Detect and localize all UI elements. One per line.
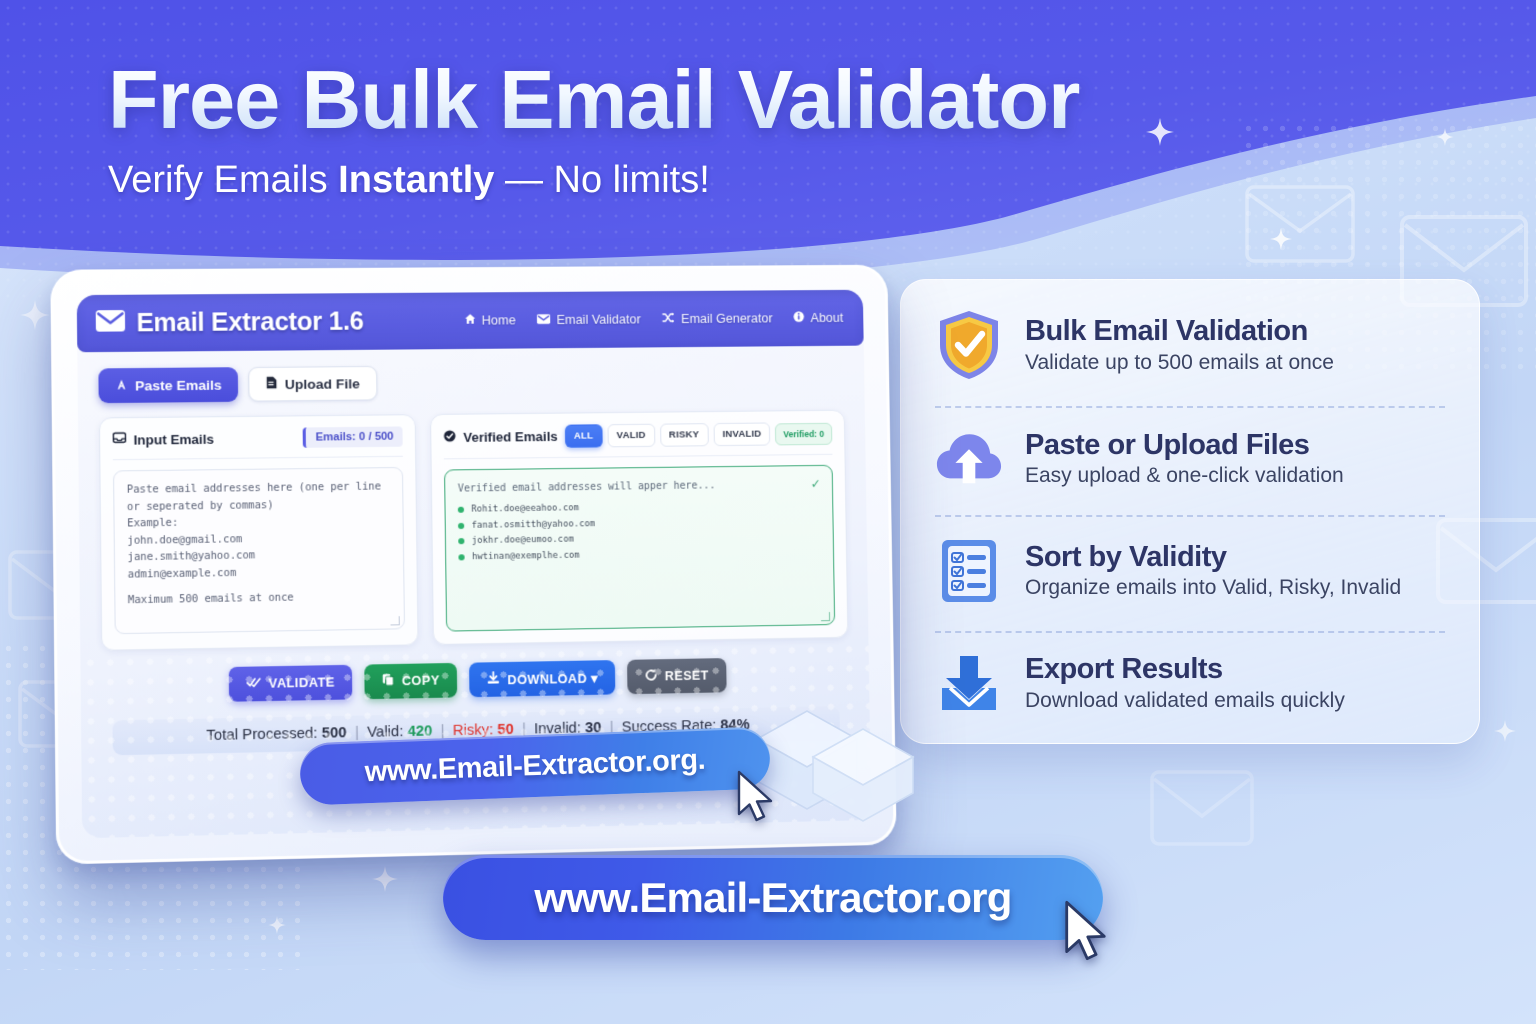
nav-item-home[interactable]: Home: [464, 313, 516, 328]
verified-results-box[interactable]: Verified email addresses will apper here…: [444, 465, 835, 632]
verified-count-badge: Verified: 0: [775, 422, 832, 445]
sparkle-icon: [1270, 228, 1292, 255]
subtitle-lead: Verify Emails: [108, 159, 338, 201]
button-label: DOWNLOAD ▾: [507, 670, 598, 687]
shuffle-icon: [662, 312, 675, 326]
copy-icon: [382, 673, 395, 690]
text-cursor-icon: [115, 378, 128, 393]
filter-tab-group: ALL VALID RISKY INVALID Verified: 0: [565, 422, 833, 448]
envelope-decor-icon: [1150, 770, 1254, 846]
feature-subtitle: Organize emails into Valid, Risky, Inval…: [1025, 576, 1445, 600]
sparkle-icon: [268, 916, 286, 939]
sparkle-icon: [1436, 128, 1454, 151]
feature-subtitle: Validate up to 500 emails at once: [1025, 351, 1445, 375]
tab-label: Upload File: [285, 376, 360, 392]
input-panel: Input Emails Emails: 0 / 500 Paste email…: [99, 414, 419, 651]
status-dot: [458, 538, 464, 544]
verified-hint-row: Verified email addresses will apper here…: [458, 476, 820, 497]
list-item: Rohit.doe@eeahoo.com: [458, 500, 820, 515]
verified-panel-header: Verified Emails ALL VALID RISKY INVALID …: [444, 422, 833, 460]
feature-subtitle: Download validated emails quickly: [1025, 689, 1445, 713]
valid-label: Valid:: [367, 724, 403, 741]
checklist-icon: [935, 536, 1003, 606]
status-dot: [459, 554, 465, 560]
envelope-icon: [537, 313, 550, 327]
nav-item-email-generator[interactable]: Email Generator: [662, 311, 773, 326]
envelope-decor-icon: [1245, 185, 1355, 263]
feature-title: Sort by Validity: [1025, 541, 1445, 574]
valid-value: 420: [407, 723, 432, 740]
nav-label: About: [811, 311, 844, 325]
action-button-row: VALIDATE COPY DOWNLOAD ▾ RESET: [101, 656, 849, 704]
feature-title: Bulk Email Validation: [1025, 315, 1445, 348]
info-icon: [794, 311, 805, 325]
email-input-textarea[interactable]: Paste email addresses here (one per line…: [113, 467, 405, 634]
verified-email-list: Rohit.doe@eeahoo.com fanat.osmitth@yahoo…: [458, 500, 821, 562]
list-item: hwtinan@exemplhe.com: [459, 547, 821, 562]
list-item: fanat.osmitth@yahoo.com: [458, 515, 820, 530]
tab-paste-emails[interactable]: Paste Emails: [98, 367, 238, 403]
button-label: RESET: [665, 668, 709, 683]
nav-item-email-validator[interactable]: Email Validator: [537, 312, 641, 327]
feature-bulk-email-validation: Bulk Email Validation Validate up to 500…: [935, 300, 1445, 390]
reset-button[interactable]: RESET: [627, 658, 726, 694]
textarea-resize-handle[interactable]: [391, 616, 400, 625]
nav-label: Email Generator: [681, 311, 773, 326]
feature-sort-by-validity: Sort by Validity Organize emails into Va…: [935, 515, 1445, 615]
filter-tab-invalid[interactable]: INVALID: [713, 422, 770, 446]
mode-tab-group: Paste Emails Upload File: [98, 362, 844, 403]
hero-text-block: Free Bulk Email Validator Verify Emails …: [108, 58, 1258, 202]
feature-subtitle: Easy upload & one-click validation: [1025, 464, 1445, 488]
filter-tab-all[interactable]: ALL: [565, 424, 603, 448]
feature-export-results: Export Results Download validated emails…: [935, 631, 1445, 723]
feature-title: Export Results: [1025, 653, 1445, 686]
app-title: Email Extractor 1.6: [136, 307, 363, 338]
email-address: jokhr.doe@eumoo.com: [472, 535, 574, 547]
status-dot: [458, 522, 464, 528]
page-subtitle: Verify Emails Instantly — No limits!: [108, 159, 1258, 202]
filter-tab-risky[interactable]: RISKY: [660, 423, 709, 447]
download-icon: [487, 671, 501, 687]
app-body: Paste Emails Upload File Input Emails Em…: [77, 346, 870, 756]
features-card: Bulk Email Validation Validate up to 500…: [900, 279, 1480, 744]
cta-url-text: www.Email-Extractor.org: [534, 874, 1011, 922]
nav-label: Home: [482, 313, 516, 327]
button-label: VALIDATE: [269, 675, 335, 690]
panels-row: Input Emails Emails: 0 / 500 Paste email…: [99, 410, 849, 651]
email-address: fanat.osmitth@yahoo.com: [472, 519, 596, 531]
file-icon: [266, 376, 278, 392]
email-counter: Emails: 0 / 500: [303, 426, 403, 447]
download-button[interactable]: DOWNLOAD ▾: [469, 660, 615, 697]
tab-upload-file[interactable]: Upload File: [248, 366, 377, 402]
brand: Email Extractor 1.6: [96, 307, 364, 339]
verified-panel: Verified Emails ALL VALID RISKY INVALID …: [430, 410, 848, 645]
input-panel-title: Input Emails: [133, 431, 214, 447]
subtitle-tail: — No limits!: [494, 159, 709, 201]
nav-label: Email Validator: [556, 312, 640, 327]
status-dot: [458, 507, 464, 513]
validate-button[interactable]: VALIDATE: [229, 665, 352, 702]
results-resize-handle[interactable]: [821, 612, 830, 621]
feature-title: Paste or Upload Files: [1025, 429, 1445, 462]
sparkle-icon: [20, 300, 50, 335]
placeholder-line: Paste email addresses here (one per line…: [127, 479, 391, 516]
sparkle-icon: [1494, 720, 1516, 747]
refresh-icon: [644, 668, 657, 684]
feature-text: Paste or Upload Files Easy upload & one-…: [1025, 429, 1445, 488]
app-titlebar: Email Extractor 1.6 Home Email Validator…: [77, 290, 864, 352]
button-label: COPY: [402, 673, 440, 688]
download-tray-icon: [935, 652, 1003, 714]
cursor-pointer-icon: [1062, 900, 1116, 973]
feature-text: Bulk Email Validation Validate up to 500…: [1025, 315, 1445, 374]
feature-paste-or-upload: Paste or Upload Files Easy upload & one-…: [935, 406, 1445, 498]
sparkle-icon: [372, 866, 398, 897]
email-address: Rohit.doe@eeahoo.com: [471, 503, 579, 515]
input-panel-header: Input Emails Emails: 0 / 500: [113, 426, 404, 460]
total-label: Total Processed:: [206, 726, 317, 745]
copy-button[interactable]: COPY: [364, 663, 457, 699]
total-value: 500: [322, 725, 347, 742]
subtitle-emphasis: Instantly: [338, 159, 494, 201]
inline-url-text: www.Email-Extractor.org.: [364, 743, 706, 788]
feature-text: Sort by Validity Organize emails into Va…: [1025, 541, 1445, 600]
page-title: Free Bulk Email Validator: [108, 58, 1258, 143]
check-icon: ✓: [811, 476, 820, 492]
inbox-icon: [113, 430, 127, 449]
verified-panel-title: Verified Emails: [463, 429, 558, 445]
double-check-icon: [247, 677, 262, 692]
list-item: jokhr.doe@eumoo.com: [458, 531, 820, 546]
filter-tab-valid[interactable]: VALID: [607, 424, 655, 448]
shield-check-icon: [935, 309, 1003, 381]
cloud-upload-icon: [935, 427, 1003, 489]
envelope-icon: [96, 310, 125, 337]
verified-hint-text: Verified email addresses will apper here…: [458, 480, 716, 494]
email-address: hwtinan@exemplhe.com: [472, 550, 580, 562]
tab-label: Paste Emails: [135, 377, 222, 393]
app-nav: Home Email Validator Email Generator Abo…: [464, 311, 843, 328]
cta-url-button[interactable]: www.Email-Extractor.org: [443, 855, 1103, 940]
feature-text: Export Results Download validated emails…: [1025, 653, 1445, 712]
home-icon: [464, 314, 475, 328]
check-circle-icon: [444, 428, 457, 446]
cursor-pointer-icon: [735, 770, 781, 833]
nav-item-about[interactable]: About: [794, 311, 844, 325]
placeholder-footer: Maximum 500 emails at once: [128, 589, 392, 610]
